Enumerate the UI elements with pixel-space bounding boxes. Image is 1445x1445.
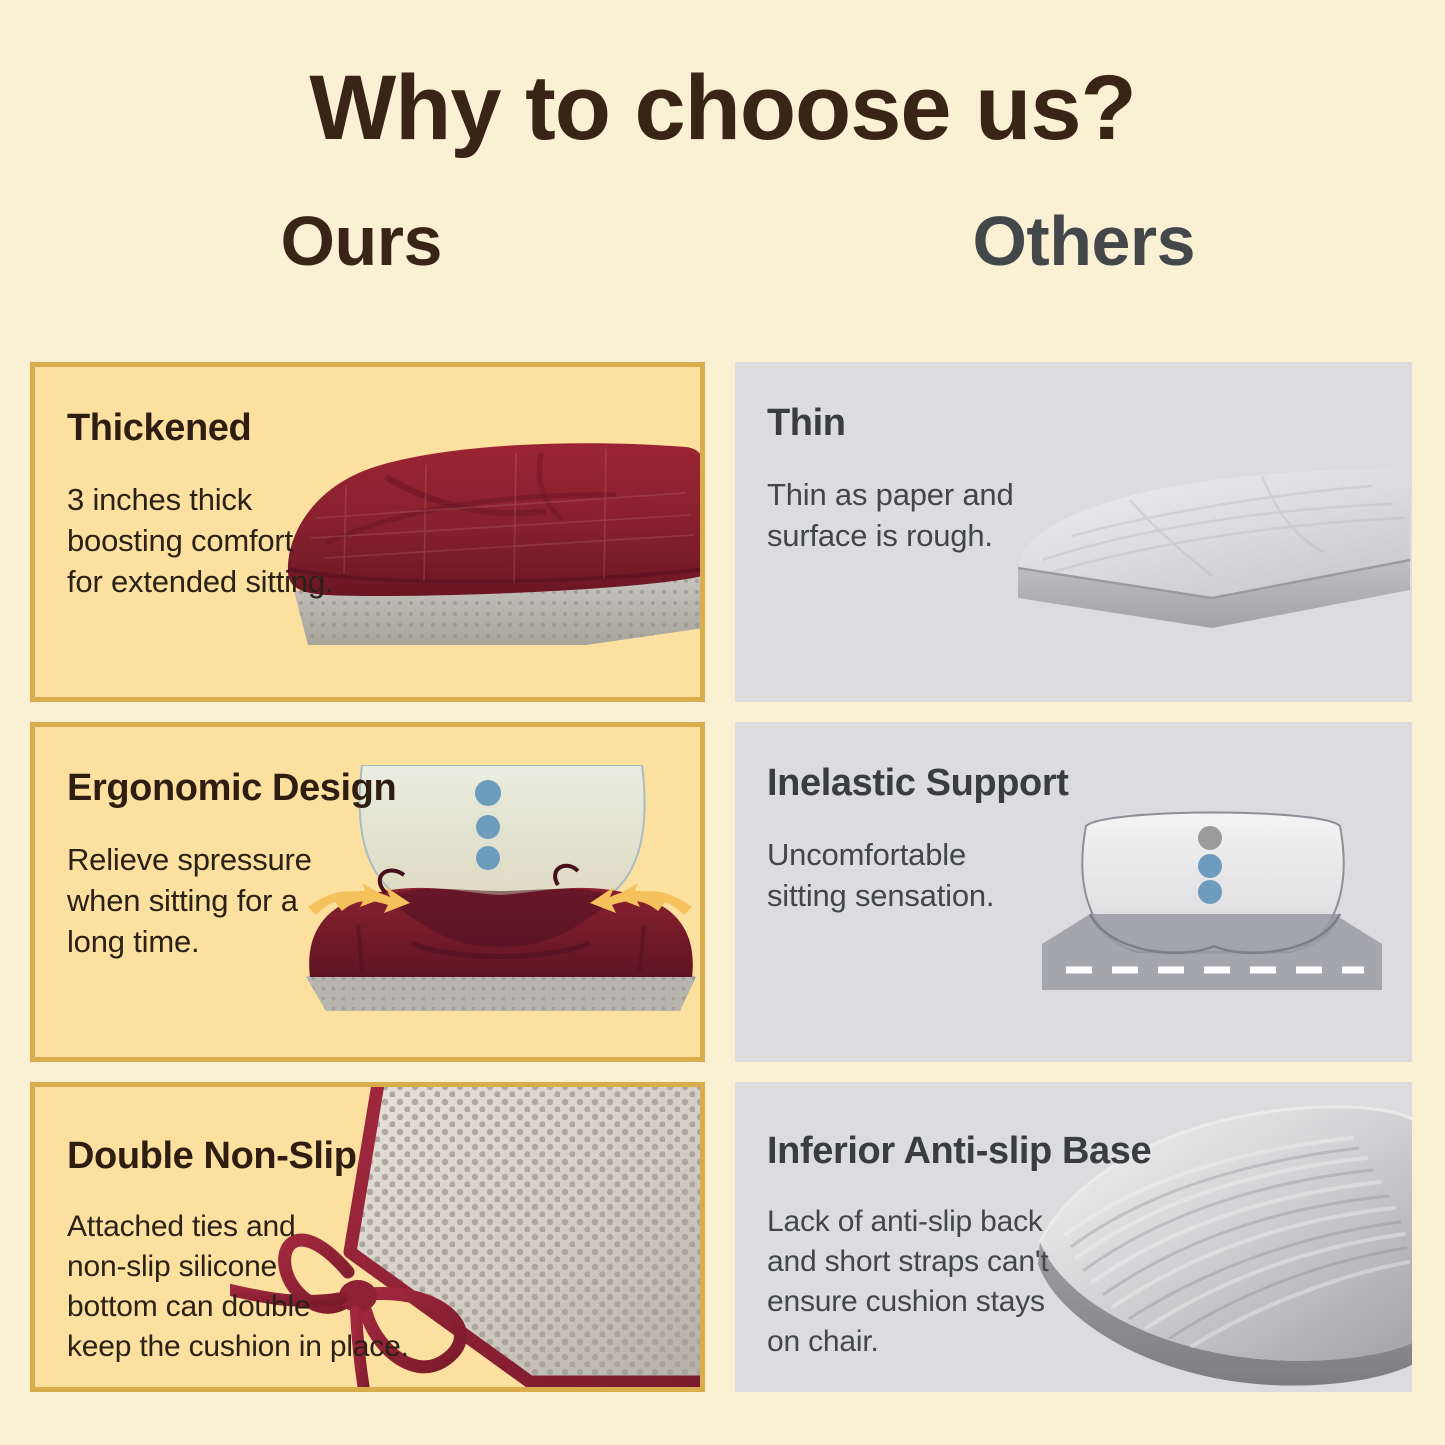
pressure-arrow-right [590, 883, 692, 915]
panel-description: Thin as paper and surface is rough. [767, 474, 1147, 556]
pressure-dot [476, 846, 500, 870]
panel-description: 3 inches thick boosting comfort for exte… [67, 479, 447, 603]
panel-text-block: Inferior Anti-slip Base Lack of anti-sli… [735, 1082, 1167, 1361]
pressure-dot [475, 780, 501, 806]
panel-text-block: Thin Thin as paper and surface is rough. [735, 362, 1147, 556]
comparison-row-nonslip: Double Non-Slip Attached ties and non-sl… [0, 1082, 1445, 1392]
panel-description: Uncomfortable sitting sensation. [767, 834, 1147, 916]
panel-title: Thickened [67, 409, 447, 449]
panel-text-block: Ergonomic Design Relieve spressure when … [35, 727, 447, 963]
column-heading-ours: Ours [0, 206, 723, 292]
panel-description: Lack of anti-slip back and short straps … [767, 1202, 1167, 1362]
comparison-infographic: { "header": { "title": "Why to choose us… [0, 0, 1445, 1445]
panel-title: Inelastic Support [767, 764, 1147, 804]
panel-ours-thickened: Thickened 3 inches thick boosting comfor… [30, 362, 705, 702]
panel-text-block: Inelastic Support Uncomfortable sitting … [735, 722, 1147, 916]
panel-text-block: Double Non-Slip Attached ties and non-sl… [35, 1087, 467, 1366]
panel-description: Relieve spressure when sitting for a lon… [67, 839, 447, 963]
comparison-row-ergonomic: Ergonomic Design Relieve spressure when … [0, 722, 1445, 1062]
panel-others-anti-slip: Inferior Anti-slip Base Lack of anti-sli… [735, 1082, 1412, 1392]
column-headings: Ours Others [0, 206, 1445, 292]
panel-others-inelastic: Inelastic Support Uncomfortable sitting … [735, 722, 1412, 1062]
pressure-dot [1198, 880, 1222, 904]
pressure-dot [1198, 854, 1222, 878]
comparison-row-thickened: Thickened 3 inches thick boosting comfor… [0, 362, 1445, 702]
panel-title: Double Non-Slip [67, 1137, 467, 1177]
panel-ours-nonslip: Double Non-Slip Attached ties and non-sl… [30, 1082, 705, 1392]
pressure-dot [1198, 826, 1222, 850]
comparison-grid: Thickened 3 inches thick boosting comfor… [0, 362, 1445, 1412]
page-title: Why to choose us? [0, 0, 1445, 154]
pressure-dot [476, 815, 500, 839]
panel-ours-ergonomic: Ergonomic Design Relieve spressure when … [30, 722, 705, 1062]
panel-text-block: Thickened 3 inches thick boosting comfor… [35, 367, 447, 603]
column-heading-others: Others [723, 206, 1445, 292]
panel-others-thin: Thin Thin as paper and surface is rough. [735, 362, 1412, 702]
panel-title: Thin [767, 404, 1147, 444]
panel-title: Inferior Anti-slip Base [767, 1132, 1167, 1172]
panel-description: Attached ties and non-slip silicone bott… [67, 1207, 467, 1367]
panel-title: Ergonomic Design [67, 769, 447, 809]
